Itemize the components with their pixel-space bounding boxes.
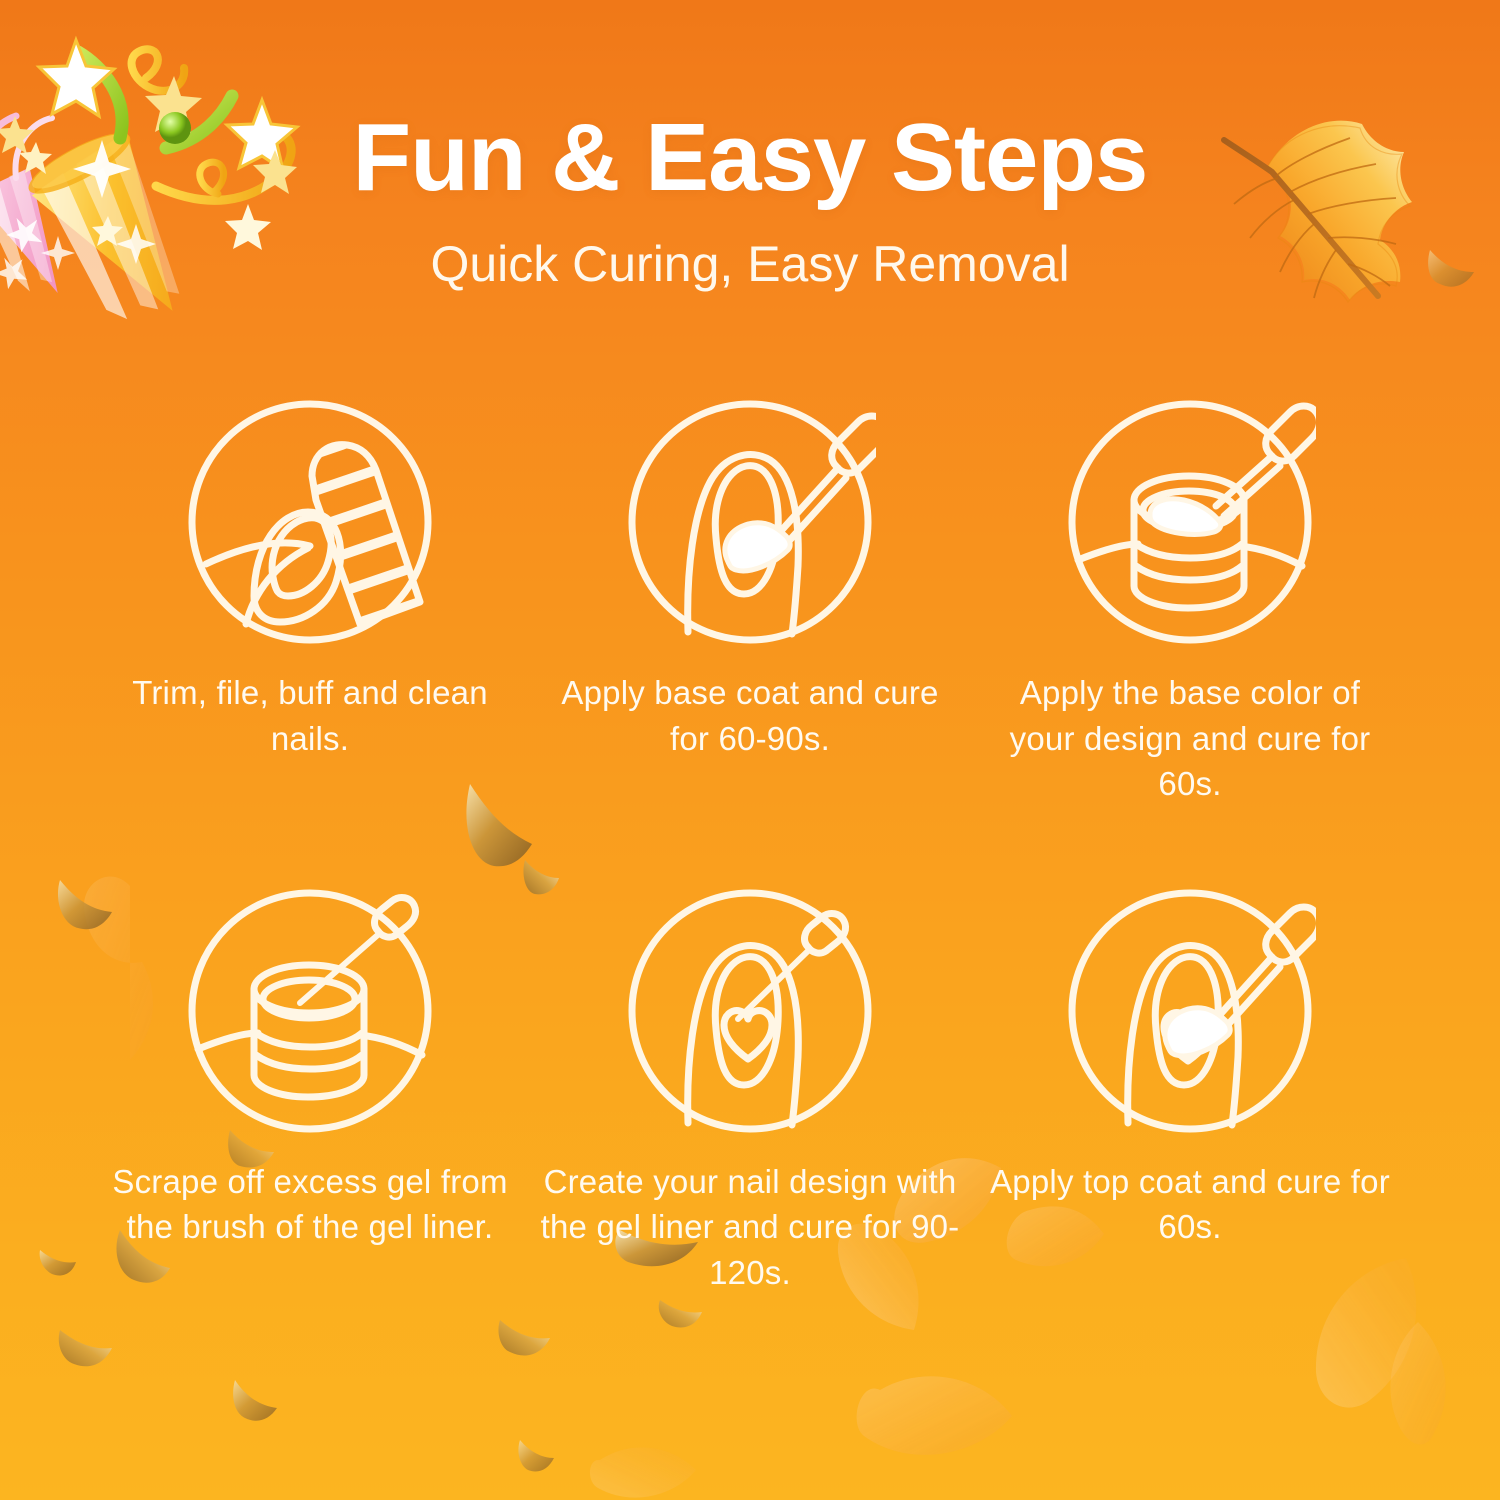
header: Fun & Easy Steps Quick Curing, Easy Remo…	[0, 108, 1500, 293]
page-title: Fun & Easy Steps	[0, 108, 1500, 209]
step-caption-2: Apply base coat and cure for 60-90s.	[550, 670, 950, 761]
step-caption-1: Trim, file, buff and clean nails.	[110, 670, 510, 761]
nail-art-liner-icon	[624, 885, 876, 1137]
step-caption-6: Apply top coat and cure for 60s.	[990, 1159, 1390, 1250]
step-item-5: Create your nail design with the gel lin…	[530, 885, 970, 1296]
step-item-4: Scrape off excess gel from the brush of …	[90, 885, 530, 1296]
step-item-1: Trim, file, buff and clean nails.	[90, 396, 530, 807]
page-subtitle: Quick Curing, Easy Removal	[0, 235, 1500, 293]
nail-file-icon	[184, 396, 436, 648]
step-caption-5: Create your nail design with the gel lin…	[535, 1159, 965, 1296]
gel-pot-liner-icon	[184, 885, 436, 1137]
step-item-6: Apply top coat and cure for 60s.	[970, 885, 1410, 1296]
infographic-poster: Fun & Easy Steps Quick Curing, Easy Remo…	[0, 0, 1500, 1500]
step-caption-4: Scrape off excess gel from the brush of …	[110, 1159, 510, 1250]
step-caption-3: Apply the base color of your design and …	[990, 670, 1390, 807]
step-item-3: Apply the base color of your design and …	[970, 396, 1410, 807]
step-item-2: Apply base coat and cure for 60-90s.	[530, 396, 970, 807]
top-coat-brush-icon	[1064, 885, 1316, 1137]
base-coat-brush-icon	[624, 396, 876, 648]
gel-pot-brush-icon	[1064, 396, 1316, 648]
steps-grid: Trim, file, buff and clean nails.	[90, 396, 1410, 1295]
